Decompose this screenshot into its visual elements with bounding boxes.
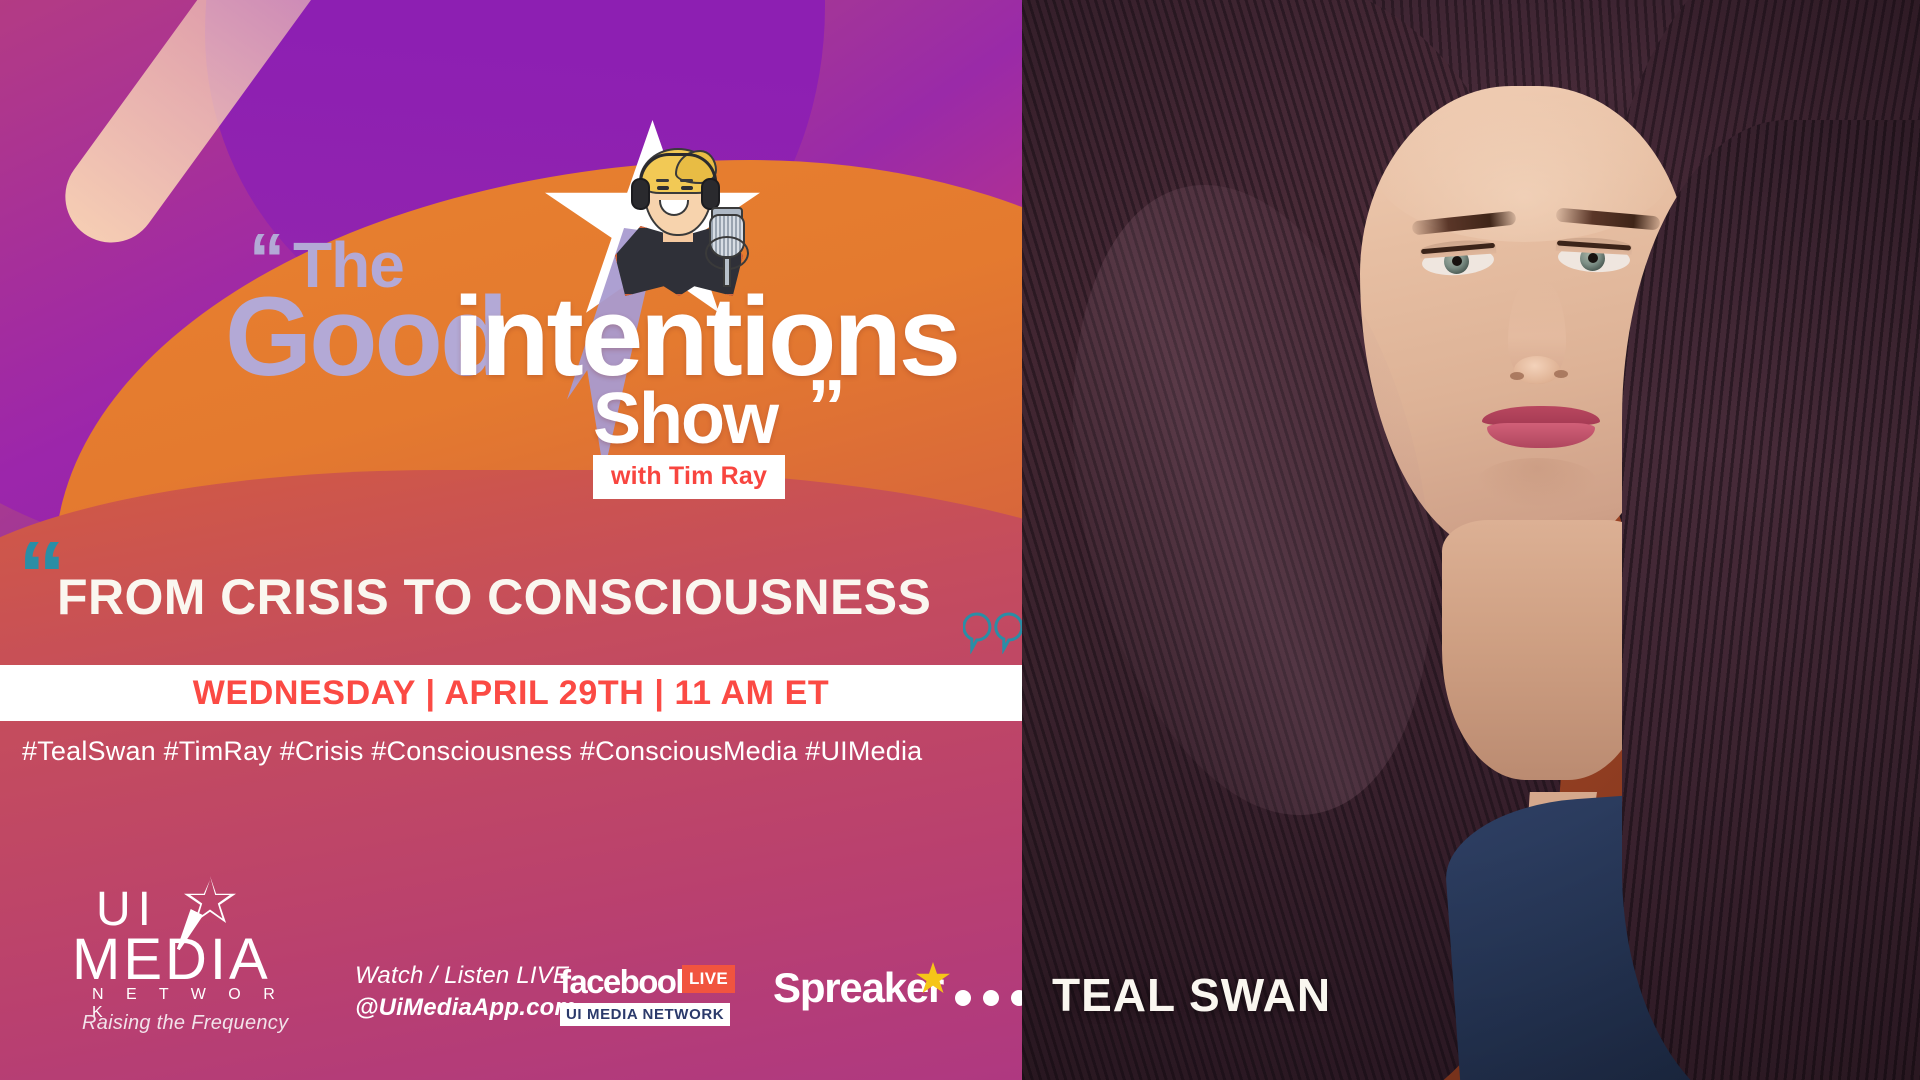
pupil-left — [1452, 256, 1462, 266]
facebook-live-badge[interactable]: facebook LIVE UI MEDIA NETWORK — [560, 963, 712, 1025]
dot — [1011, 990, 1022, 1006]
spreaker-wordmark: Spreaker — [773, 964, 943, 1012]
guest-name: TEAL SWAN — [1052, 968, 1331, 1022]
show-quote-close: ” — [807, 372, 846, 442]
promo-poster: “ The Good intentions Show ” with Tim Ra… — [0, 0, 1920, 1080]
host-eye-right — [681, 186, 693, 190]
spreaker-logo[interactable]: Spreaker — [773, 964, 938, 1020]
logo-text-media: MEDIA — [72, 926, 271, 993]
quote-close-icon — [963, 610, 1022, 654]
ui-media-network-logo: UI MEDIA N E T W O R K Raising the Frequ… — [72, 882, 290, 1024]
guest-portrait: TEAL SWAN — [1022, 0, 1920, 1080]
watch-live-url[interactable]: @UiMediaApp.com — [355, 994, 576, 1022]
host-eye-left — [657, 186, 669, 190]
headline-block: “ FROM CRISIS TO CONSCIOUSNESS — [0, 540, 1022, 650]
page-title: FROM CRISIS TO CONSCIOUSNESS — [57, 568, 931, 626]
neck — [1442, 520, 1652, 780]
headphone-right-icon — [701, 178, 720, 210]
facebook-channel-name: UI MEDIA NETWORK — [560, 1003, 730, 1026]
date-bar: WEDNESDAY | APRIL 29TH | 11 AM ET — [0, 665, 1022, 721]
dot — [983, 990, 999, 1006]
show-logo: “ The Good intentions Show ” with Tim Ra… — [215, 120, 815, 500]
show-word-show: Show — [593, 378, 777, 460]
chin-shadow — [1477, 458, 1597, 506]
lower-lip — [1487, 423, 1595, 448]
show-host-tag: with Tim Ray — [593, 455, 785, 499]
hashtag-list: #TealSwan #TimRay #Crisis #Consciousness… — [22, 736, 922, 767]
logo-tagline: Raising the Frequency — [82, 1012, 288, 1035]
nostril-left — [1510, 372, 1524, 380]
lips — [1482, 406, 1600, 450]
host-brow-left — [656, 179, 669, 182]
facebook-wordmark: facebook — [560, 963, 692, 1001]
facebook-live-chip: LIVE — [682, 965, 735, 993]
headphone-left-icon — [631, 178, 650, 210]
left-graphic-panel: “ The Good intentions Show ” with Tim Ra… — [0, 0, 1022, 1080]
nostril-right — [1554, 370, 1568, 378]
host-brow-right — [680, 179, 693, 182]
more-dots-icon — [955, 990, 1022, 1006]
pupil-right — [1588, 253, 1598, 263]
dot — [955, 990, 971, 1006]
host-cartoon-icon — [613, 142, 745, 292]
watch-live-label: Watch / Listen LIVE — [355, 962, 569, 990]
social-listen-row: Watch / Listen LIVE @UiMediaApp.com face… — [355, 962, 985, 1042]
hair-front-strand — [1622, 120, 1920, 1080]
event-datetime: WEDNESDAY | APRIL 29TH | 11 AM ET — [193, 674, 830, 713]
nose-tip — [1514, 356, 1560, 384]
